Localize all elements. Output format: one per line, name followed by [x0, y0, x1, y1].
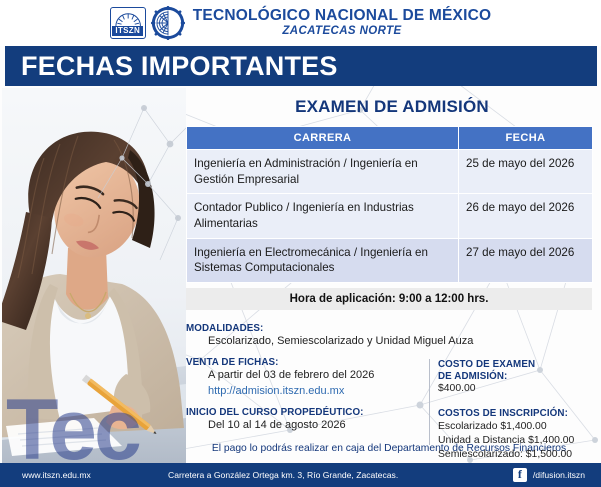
costo-examen-value: $400.00: [438, 382, 596, 396]
footer-website[interactable]: www.itszn.edu.mx: [22, 470, 91, 480]
venta-fichas-value: A partir del 03 de febrero del 2026: [186, 368, 424, 384]
institution-logo: ITSZN: [110, 6, 492, 40]
costos-inscripcion-label: COSTOS DE INSCRIPCIÓN:: [438, 408, 596, 420]
column-header-carrera: CARRERA: [187, 127, 459, 150]
table-row: Ingeniería en Administración / Ingenierí…: [187, 150, 593, 194]
table-header-row: CARRERA FECHA: [187, 127, 593, 150]
application-time-banner: Hora de aplicación: 9:00 a 12:00 hrs.: [186, 288, 592, 310]
main-content: EXAMEN DE ADMISIÓN CARRERA FECHA Ingenie…: [186, 92, 598, 462]
tec-watermark: Tec: [6, 396, 139, 465]
institution-name-block: TECNOLÓGICO NACIONAL DE MÉXICO ZACATECAS…: [193, 8, 492, 38]
footer-bar: www.itszn.edu.mx Carretera a González Or…: [0, 463, 601, 487]
modalidades-label: MODALIDADES:: [186, 323, 424, 334]
cell-fecha: 26 de mayo del 2026: [459, 194, 593, 238]
footer-social-handle[interactable]: /difusion.itszn: [533, 470, 585, 480]
costo-examen-label-line1: COSTO DE EXAMEN: [438, 359, 596, 371]
propedeutico-label: INICIO DEL CURSO PROPEDÉUTICO:: [186, 407, 424, 418]
itszn-badge-icon: ITSZN: [110, 7, 146, 39]
modalidades-value: Escolarizado, Semiescolarizado y Unidad …: [186, 334, 516, 350]
sunburst-icon: [114, 10, 142, 27]
admission-link[interactable]: http://admision.itszn.edu.mx: [186, 384, 424, 400]
costo-unidad-distancia: Unidad a Distancia $1,400.00: [438, 434, 596, 448]
schedule-table: CARRERA FECHA Ingeniería en Administraci…: [186, 126, 593, 283]
poster-root: ITSZN: [0, 0, 601, 487]
exam-heading: EXAMEN DE ADMISIÓN: [186, 97, 598, 117]
venta-fichas-label: VENTA DE FICHAS:: [186, 357, 424, 368]
costo-escolarizado: Escolarizado $1,400.00: [438, 420, 596, 434]
header-logo-strip: ITSZN: [0, 0, 601, 46]
cell-carrera: Ingeniería en Electromecánica / Ingenier…: [187, 238, 459, 282]
page-title: FECHAS IMPORTANTES: [5, 51, 338, 82]
cell-carrera: Ingeniería en Administración / Ingenierí…: [187, 150, 459, 194]
facebook-icon[interactable]: [513, 468, 527, 482]
page-title-bar: FECHAS IMPORTANTES: [5, 46, 597, 86]
info-block: MODALIDADES: Escolarizado, Semiescolariz…: [186, 323, 592, 434]
costo-semiescolarizado: Semiescolarizado: $1,500.00: [438, 448, 596, 462]
itszn-badge-label: ITSZN: [112, 26, 143, 36]
gear-emblem-icon: [151, 6, 185, 40]
cell-fecha: 25 de mayo del 2026: [459, 150, 593, 194]
institution-line1: TECNOLÓGICO NACIONAL DE MÉXICO: [193, 8, 492, 24]
footer-address: Carretera a González Ortega km. 3, Río G…: [168, 470, 398, 480]
vertical-divider: [429, 359, 430, 445]
column-header-fecha: FECHA: [459, 127, 593, 150]
info-right-column: COSTO DE EXAMEN DE ADMISIÓN: $400.00 COS…: [438, 359, 596, 462]
footer-social[interactable]: /difusion.itszn: [513, 468, 585, 482]
info-left-column: MODALIDADES: Escolarizado, Semiescolariz…: [186, 323, 424, 434]
table-row: Ingeniería en Electromecánica / Ingenier…: [187, 238, 593, 282]
cell-carrera: Contador Publico / Ingeniería en Industr…: [187, 194, 459, 238]
costo-examen-label-line2: DE ADMISIÓN:: [438, 371, 596, 383]
institution-line2: ZACATECAS NORTE: [193, 25, 492, 38]
table-row: Contador Publico / Ingeniería en Industr…: [187, 194, 593, 238]
propedeutico-value: Del 10 al 14 de agosto 2026: [186, 418, 424, 434]
cell-fecha: 27 de mayo del 2026: [459, 238, 593, 282]
